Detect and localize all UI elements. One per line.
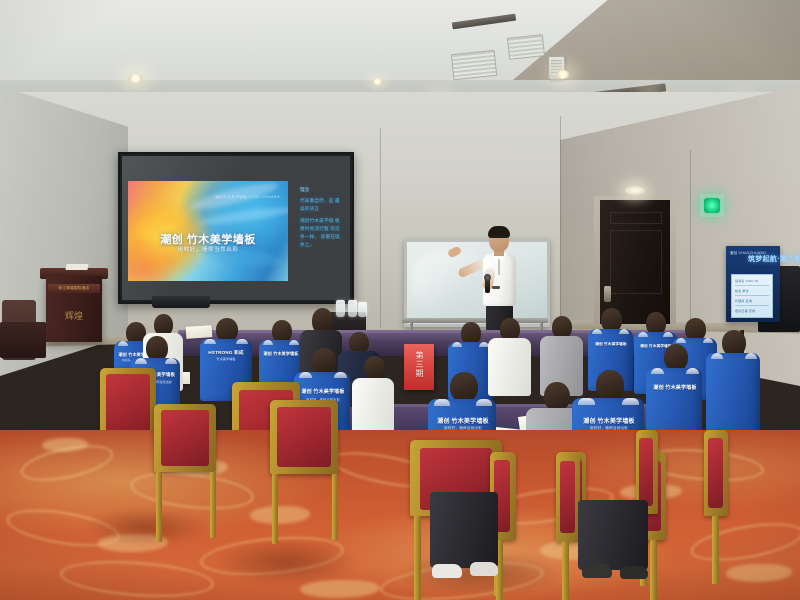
shoe [582, 564, 612, 578]
seminar-room-photo: 潮创竹木美学墙板 CHAO CHUANG 潮创 竹木美学墙板 用材好，墙师当然出… [0, 0, 800, 600]
chair-leg [272, 474, 278, 544]
chair-leg [562, 542, 569, 600]
podium-nameplate: 浙江辉煌国际酒店 [48, 284, 100, 293]
vest-shoulder-trim [619, 329, 629, 334]
banquet-chair[interactable] [264, 400, 348, 550]
microphone-head [484, 274, 491, 281]
vest-shoulder-trim [334, 372, 347, 378]
vest-shoulder-trim [711, 353, 723, 359]
shoe [620, 566, 648, 579]
vest-shoulder-trim [204, 339, 216, 344]
vest-shoulder-trim [118, 341, 128, 346]
slide-corner-logo: 潮创竹木美学墙板 CHAO CHUANG [215, 195, 280, 200]
signin-row: 姓名 单位 [735, 287, 769, 296]
vest-shoulder-trim [676, 338, 686, 343]
exit-sign-icon [704, 198, 720, 213]
table-tent-text: 第三期 [414, 351, 424, 378]
chair-leg [414, 516, 421, 600]
chair-leg [332, 474, 338, 540]
chair-cushion [106, 374, 150, 436]
attendee-lower-body [430, 492, 502, 592]
ceiling-downlight [372, 78, 383, 85]
chair-cushion [639, 438, 653, 506]
vest-shoulder-trim [263, 340, 273, 345]
vest-brand-text: HSTRONG 和成 [198, 350, 254, 356]
attendee-head [596, 370, 624, 401]
side-panel-heading: 理念 [300, 186, 344, 194]
door-handle[interactable] [604, 286, 611, 302]
vest-shoulder-trim [638, 332, 648, 337]
vest-shoulder-trim [476, 399, 492, 406]
water-bottle[interactable] [348, 300, 357, 317]
chair-cushion [708, 438, 723, 508]
vest-shoulder-trim [135, 358, 147, 364]
ceiling-downlight [128, 74, 143, 83]
attendee-trousers [430, 492, 498, 568]
projection-screen[interactable]: 潮创竹木美学墙板 CHAO CHUANG 潮创 竹木美学墙板 用材好，墙师当然出… [118, 152, 354, 304]
vest-brand-text: 潮创 竹木美学墙板 [646, 384, 704, 391]
vest-shoulder-trim [745, 353, 757, 359]
door-panel [610, 230, 662, 294]
screen-surface: 潮创竹木美学墙板 CHAO CHUANG 潮创 竹木美学墙板 用材好，墙师当然出… [122, 156, 350, 300]
podium-papers [65, 264, 88, 270]
glasses-icon [490, 236, 508, 241]
vest-shoulder-trim [289, 340, 299, 345]
chair-cushion [277, 407, 331, 467]
attendee-trousers [578, 500, 648, 570]
side-table [0, 322, 46, 358]
podium-emblem: 辉煌 [62, 308, 86, 324]
vest-brand-text: 潮创 竹木美学墙板 [588, 342, 634, 347]
vest-shoulder-trim [299, 372, 312, 378]
wall-seam [690, 150, 691, 330]
wristwatch-icon [492, 286, 500, 289]
attendee-lower-body [578, 500, 652, 596]
attendee-vest [706, 353, 760, 441]
side-panel-text-2: 潮创竹木美学墙 板像时尚流行服 装这条一样， 穿着在墙体上。 [300, 217, 344, 249]
door-panel [610, 212, 662, 224]
vest-brand-text: 潮创 竹木美学墙板 [572, 416, 646, 425]
slide-subtitle: 用材好，墙师当然出彩 [128, 245, 288, 253]
vest-brand-subtext: 竹木美学墙板 [198, 357, 254, 361]
chair-cushion [161, 410, 209, 466]
carpet-motif [59, 557, 215, 600]
rollup-banner: 潮创 CHAOCHUANG 筑梦起航·第三期 签到表 SIGN IN 姓名 单位… [726, 246, 780, 322]
vest-shoulder-trim [236, 339, 248, 344]
presenter-placket [498, 259, 500, 275]
wall-seam [560, 116, 561, 330]
air-vent [507, 34, 545, 60]
chair-leg [210, 472, 216, 538]
chair-leg [712, 516, 719, 584]
slide-side-panel: 理念 代表着自然、是 最美的语言 潮创竹木美学墙 板像时尚流行服 装这条一样， … [300, 186, 344, 253]
banner-signin-sheet: 签到表 SIGN IN 姓名 单位 代理商 区域 培训日程 安排 [731, 274, 773, 318]
vest-shoulder-trim [434, 399, 450, 406]
side-panel-text-1: 代表着自然、是 最美的语言 [300, 197, 344, 213]
screen-housing [152, 296, 210, 308]
banquet-chair[interactable] [150, 404, 226, 554]
vest-shoulder-trim [686, 368, 699, 374]
water-bottle[interactable] [358, 302, 367, 317]
banner-headline: 筑梦起航·第三期 [748, 254, 800, 264]
attendee-head [450, 372, 478, 402]
vest-shoulder-trim [165, 358, 177, 364]
attendee-head [312, 348, 336, 375]
ceiling-downlight [556, 70, 570, 79]
chair-leg [156, 472, 162, 542]
air-vent [451, 50, 497, 80]
shoe [470, 562, 498, 576]
signin-row: 培训日程 安排 [735, 307, 769, 315]
signin-row: 代理商 区域 [735, 297, 769, 306]
signin-row: 签到表 SIGN IN [735, 277, 769, 286]
presentation-slide: 潮创竹木美学墙板 CHAO CHUANG 潮创 竹木美学墙板 用材好，墙师当然出… [128, 181, 288, 281]
vest-brand-text: 潮创 竹木美学墙板 [428, 416, 498, 425]
shoe [432, 564, 462, 578]
vest-shoulder-trim [592, 329, 602, 334]
vest-shoulder-trim [578, 398, 595, 405]
chair-cushion [560, 461, 575, 533]
wall-seam [380, 128, 381, 328]
attendee-head [664, 344, 688, 371]
vest-shoulder-trim [622, 398, 639, 405]
carpet-motif [726, 564, 792, 582]
vest-shoulder-trim [452, 342, 462, 347]
attendee-head [364, 356, 385, 380]
attendee-head [544, 382, 570, 411]
wall-light [625, 186, 645, 195]
vest-shoulder-trim [651, 368, 664, 374]
carpet-motif [300, 580, 380, 598]
